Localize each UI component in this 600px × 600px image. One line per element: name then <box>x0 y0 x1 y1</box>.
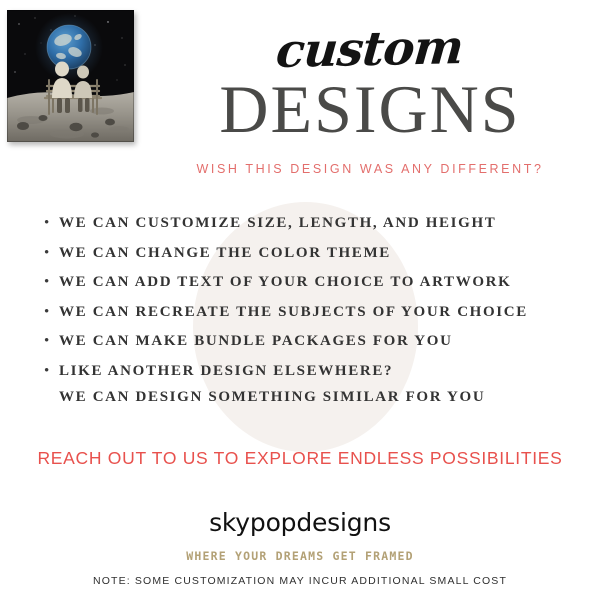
list-item: • WE CAN MAKE BUNDLE PACKAGES FOR YOU <box>44 332 584 350</box>
list-item-label: WE CAN RECREATE THE SUBJECTS OF YOUR CHO… <box>59 303 528 321</box>
list-item-label: WE CAN ADD TEXT OF YOUR CHOICE TO ARTWOR… <box>59 273 511 291</box>
list-item: • WE CAN CUSTOMIZE SIZE, LENGTH, AND HEI… <box>44 214 584 232</box>
list-item: • WE CAN ADD TEXT OF YOUR CHOICE TO ARTW… <box>44 273 584 291</box>
promo-poster: custom DESIGNS WISH THIS DESIGN WAS ANY … <box>0 0 600 600</box>
list-item: • LIKE ANOTHER DESIGN ELSEWHERE? <box>44 362 584 380</box>
brand-tagline: WHERE YOUR DREAMS GET FRAMED <box>0 549 600 563</box>
list-item: • WE CAN CHANGE THE COLOR THEME <box>44 244 584 262</box>
bullet-icon: • <box>44 303 59 321</box>
brand-name: skypopdesigns <box>0 508 600 537</box>
bullet-icon: • <box>44 273 59 291</box>
bullet-icon: • <box>44 332 59 350</box>
feature-list: • WE CAN CUSTOMIZE SIZE, LENGTH, AND HEI… <box>44 214 584 417</box>
bullet-icon: • <box>44 214 59 232</box>
list-item-label: WE CAN CUSTOMIZE SIZE, LENGTH, AND HEIGH… <box>59 214 496 232</box>
footnote: NOTE: SOME CUSTOMIZATION MAY INCUR ADDIT… <box>0 575 600 587</box>
bullet-icon: • <box>44 362 59 380</box>
tagline-question: WISH THIS DESIGN WAS ANY DIFFERENT? <box>140 162 600 176</box>
script-title: custom <box>137 9 600 78</box>
list-item-label: WE CAN CHANGE THE COLOR THEME <box>59 244 391 262</box>
artwork-illustration <box>7 10 134 142</box>
bullet-icon: • <box>44 244 59 262</box>
list-item: • WE CAN RECREATE THE SUBJECTS OF YOUR C… <box>44 303 584 321</box>
moon-bench-earthrise-artwork[interactable] <box>7 10 134 142</box>
list-item-continuation-label: WE CAN DESIGN SOMETHING SIMILAR FOR YOU <box>59 388 485 406</box>
list-item-continuation: WE CAN DESIGN SOMETHING SIMILAR FOR YOU <box>59 388 584 406</box>
list-item-label: WE CAN MAKE BUNDLE PACKAGES FOR YOU <box>59 332 453 350</box>
headline-block: custom DESIGNS WISH THIS DESIGN WAS ANY … <box>140 14 600 176</box>
cta-text: REACH OUT TO US TO EXPLORE ENDLESS POSSI… <box>0 448 600 469</box>
page-title: DESIGNS <box>140 77 600 142</box>
list-item-label: LIKE ANOTHER DESIGN ELSEWHERE? <box>59 362 393 380</box>
